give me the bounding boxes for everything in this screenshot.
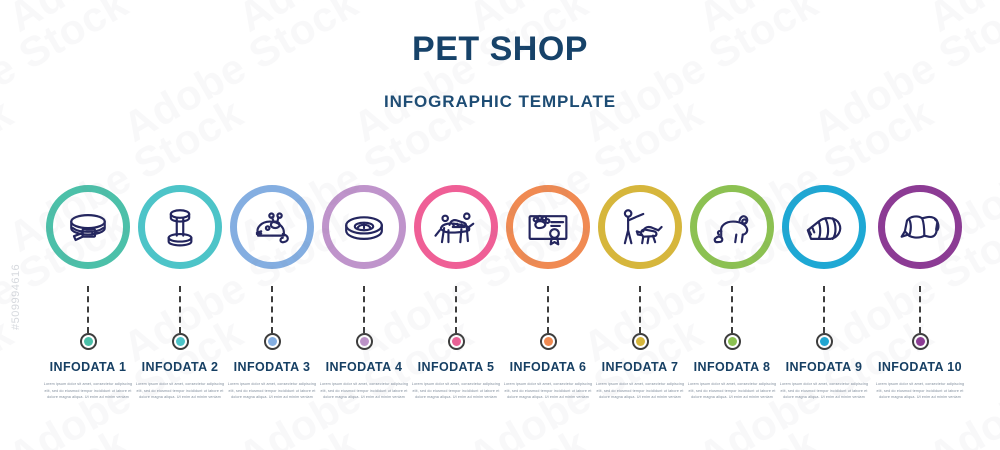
infodata-label: INFODATA 8 — [682, 360, 782, 374]
infodata-item-7[interactable]: INFODATA 7Lorem ipsum dolor sit amet, co… — [590, 286, 690, 401]
infodata-description: Lorem ipsum dolor sit amet, consectetur … — [778, 381, 870, 401]
connector-line — [87, 286, 89, 333]
infodata-item-8[interactable]: INFODATA 8Lorem ipsum dolor sit amet, co… — [682, 286, 782, 401]
infodata-label: INFODATA 6 — [498, 360, 598, 374]
infodata-items-layer: INFODATA 1Lorem ipsum dolor sit amet, co… — [0, 0, 1000, 450]
connector-line — [919, 286, 921, 333]
infodata-item-4[interactable]: INFODATA 4Lorem ipsum dolor sit amet, co… — [314, 286, 414, 401]
marker-dot — [916, 337, 925, 346]
connector-line — [271, 286, 273, 333]
infodata-item-5[interactable]: INFODATA 5Lorem ipsum dolor sit amet, co… — [406, 286, 506, 401]
infodata-item-1[interactable]: INFODATA 1Lorem ipsum dolor sit amet, co… — [38, 286, 138, 401]
marker-dot — [636, 337, 645, 346]
infodata-item-3[interactable]: INFODATA 3Lorem ipsum dolor sit amet, co… — [222, 286, 322, 401]
infodata-description: Lorem ipsum dolor sit amet, consectetur … — [594, 381, 686, 401]
connector-line — [179, 286, 181, 333]
infodata-description: Lorem ipsum dolor sit amet, consectetur … — [42, 381, 134, 401]
infodata-description: Lorem ipsum dolor sit amet, consectetur … — [410, 381, 502, 401]
infodata-description: Lorem ipsum dolor sit amet, consectetur … — [874, 381, 966, 401]
infodata-label: INFODATA 10 — [870, 360, 970, 374]
infodata-description: Lorem ipsum dolor sit amet, consectetur … — [318, 381, 410, 401]
timeline-marker[interactable] — [356, 333, 373, 350]
marker-dot — [268, 337, 277, 346]
infodata-item-2[interactable]: INFODATA 2Lorem ipsum dolor sit amet, co… — [130, 286, 230, 401]
connector-line — [731, 286, 733, 333]
infodata-label: INFODATA 9 — [774, 360, 874, 374]
infodata-label: INFODATA 3 — [222, 360, 322, 374]
connector-line — [455, 286, 457, 333]
marker-dot — [360, 337, 369, 346]
timeline-marker[interactable] — [540, 333, 557, 350]
timeline-marker[interactable] — [448, 333, 465, 350]
infodata-description: Lorem ipsum dolor sit amet, consectetur … — [226, 381, 318, 401]
infodata-label: INFODATA 4 — [314, 360, 414, 374]
marker-dot — [728, 337, 737, 346]
marker-dot — [544, 337, 553, 346]
infodata-label: INFODATA 7 — [590, 360, 690, 374]
connector-line — [639, 286, 641, 333]
timeline-marker[interactable] — [172, 333, 189, 350]
marker-dot — [176, 337, 185, 346]
infodata-description: Lorem ipsum dolor sit amet, consectetur … — [134, 381, 226, 401]
infodata-item-6[interactable]: INFODATA 6Lorem ipsum dolor sit amet, co… — [498, 286, 598, 401]
infodata-label: INFODATA 1 — [38, 360, 138, 374]
marker-dot — [84, 337, 93, 346]
timeline-marker[interactable] — [264, 333, 281, 350]
infodata-label: INFODATA 5 — [406, 360, 506, 374]
timeline-marker[interactable] — [724, 333, 741, 350]
connector-line — [547, 286, 549, 333]
timeline-marker[interactable] — [816, 333, 833, 350]
connector-line — [823, 286, 825, 333]
marker-dot — [820, 337, 829, 346]
timeline-marker[interactable] — [632, 333, 649, 350]
infodata-item-10[interactable]: INFODATA 10Lorem ipsum dolor sit amet, c… — [870, 286, 970, 401]
infodata-item-9[interactable]: INFODATA 9Lorem ipsum dolor sit amet, co… — [774, 286, 874, 401]
infodata-description: Lorem ipsum dolor sit amet, consectetur … — [686, 381, 778, 401]
connector-line — [363, 286, 365, 333]
timeline-marker[interactable] — [80, 333, 97, 350]
timeline-marker[interactable] — [912, 333, 929, 350]
infodata-description: Lorem ipsum dolor sit amet, consectetur … — [502, 381, 594, 401]
infodata-label: INFODATA 2 — [130, 360, 230, 374]
marker-dot — [452, 337, 461, 346]
